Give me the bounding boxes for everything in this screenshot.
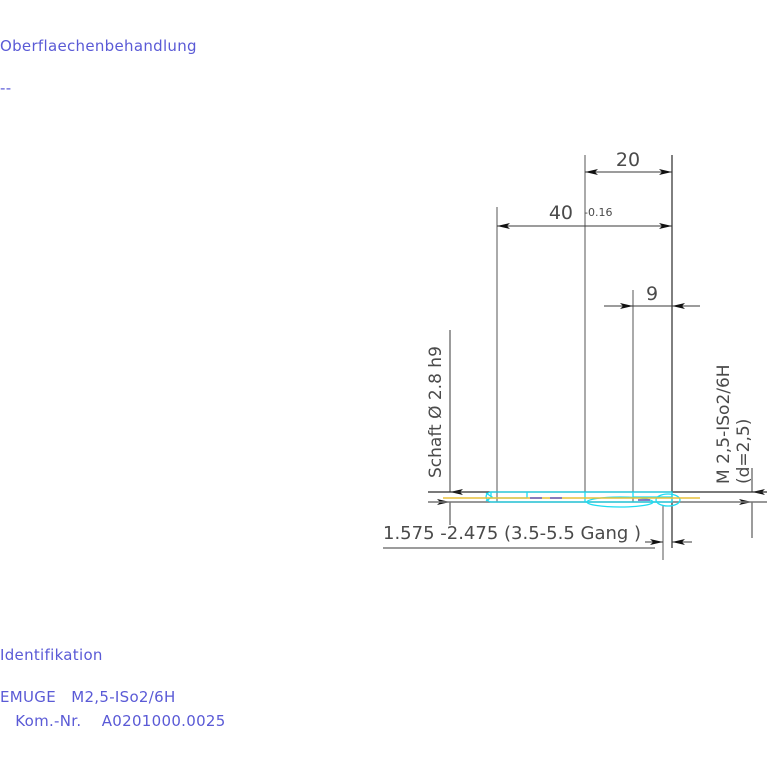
part-contour-lines	[428, 492, 767, 502]
dimension-20-label: 20	[616, 149, 640, 171]
annotation-thread-spec-label: M 2,5-ISo2/6H	[714, 364, 734, 484]
dimension-40-label: 40	[549, 202, 573, 224]
cad-geometry: 20 40 -0.16 9 Schaft Ø 2.8 h9 M 2,5-ISo2…	[0, 0, 767, 767]
annotation-shank-diameter-label: Schaft Ø 2.8 h9	[426, 346, 446, 478]
cad-drawing-root: Oberflaechenbehandlung -- Identifikation…	[0, 0, 767, 767]
annotation-thread-spec: M 2,5-ISo2/6H (d=2,5)	[714, 364, 754, 538]
dimension-20: 20	[585, 149, 672, 172]
dimension-40-tolerance: -0.16	[584, 206, 612, 219]
annotation-shank-diameter: Schaft Ø 2.8 h9	[426, 330, 450, 525]
dimension-thread-pitch: 1.575 -2.475 (3.5-5.5 Gang )	[383, 523, 692, 548]
annotation-thread-diameter-label: (d=2,5)	[734, 419, 754, 484]
dimension-thread-pitch-label: 1.575 -2.475 (3.5-5.5 Gang )	[383, 523, 641, 544]
tool-body-profile	[486, 492, 680, 507]
dimension-9-label: 9	[646, 283, 658, 305]
dimension-9: 9	[604, 283, 700, 306]
